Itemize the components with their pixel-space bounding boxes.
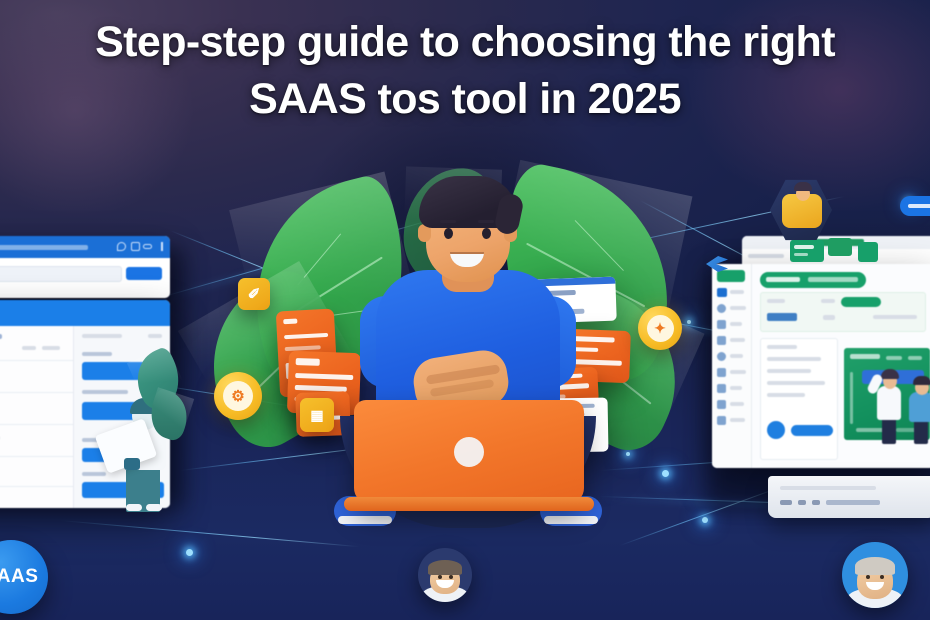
- person-brow-left: [440, 220, 456, 223]
- person-hair: [419, 176, 517, 228]
- person-eye-left: [444, 228, 453, 239]
- left-dashboard-search-input[interactable]: [0, 266, 122, 282]
- orange-share-tile: ✐: [238, 278, 270, 310]
- green-card-small-2: [828, 238, 852, 256]
- green-card-small-1: [790, 240, 824, 262]
- green-card-small-3: [858, 242, 878, 262]
- right-dashboard-sidebar: [712, 264, 752, 468]
- archive-icon[interactable]: [717, 400, 726, 409]
- yellow-gear-glyph: ⚙: [231, 387, 244, 405]
- cart-icon[interactable]: [131, 242, 140, 251]
- saas-logo-label: SAAS: [0, 566, 38, 588]
- dashboard-icon[interactable]: [717, 288, 727, 297]
- folder-icon[interactable]: [717, 368, 726, 377]
- refresh-icon[interactable]: [117, 242, 126, 251]
- avatar-eye: [438, 575, 442, 579]
- laptop-base: [344, 497, 594, 511]
- sidebar-logo: [717, 270, 745, 282]
- avatar-bottom-center[interactable]: [418, 548, 472, 602]
- person-brow-right: [478, 220, 494, 223]
- avatar-eye: [449, 575, 453, 579]
- page-title: Step-step guide to choosing the right SA…: [0, 14, 930, 128]
- headline-line-2: SAAS tos tool in 2025: [8, 71, 922, 128]
- left-dashboard-primary-button[interactable]: [126, 267, 162, 280]
- left-dashboard-app-header: [0, 300, 170, 326]
- left-dashboard-browser[interactable]: [0, 236, 170, 298]
- yellow-gear-badge: ⚙: [214, 372, 262, 420]
- right-dashboard-list-card: [760, 338, 838, 460]
- report-icon[interactable]: [717, 384, 726, 393]
- left-dashboard-table: [0, 326, 74, 508]
- laptop-logo: [454, 437, 484, 467]
- avatar-hair: [855, 557, 896, 575]
- left-dashboard-titlebar: [0, 236, 170, 258]
- person-eye-right: [482, 228, 491, 239]
- avatar-eye: [880, 575, 884, 579]
- list-cta-button[interactable]: [791, 425, 833, 436]
- orange-share-glyph: ✐: [248, 285, 261, 303]
- top-right-pill-button[interactable]: [900, 196, 930, 216]
- right-dashboard-person-1: [872, 368, 906, 444]
- link-icon[interactable]: [143, 244, 152, 249]
- right-dashboard-laptop-base: [768, 476, 930, 518]
- yellow-rocket-glyph: ✦: [654, 320, 666, 337]
- users-icon[interactable]: [717, 304, 726, 313]
- avatar-hair: [428, 560, 461, 575]
- avatar-bottom-right[interactable]: [842, 542, 908, 608]
- headline-line-1: Step-step guide to choosing the right: [95, 18, 835, 66]
- hero-canvas: Step-step guide to choosing the right SA…: [0, 0, 930, 620]
- right-dashboard-cta[interactable]: [841, 297, 881, 307]
- right-dashboard-main: [752, 264, 930, 468]
- right-dashboard-app[interactable]: [712, 264, 930, 468]
- avatar-chip: [767, 421, 785, 439]
- right-dashboard-metrics: [760, 292, 926, 332]
- settings-icon[interactable]: [717, 352, 726, 361]
- yellow-rocket-badge: ✦: [638, 306, 682, 350]
- menu-icon[interactable]: [161, 242, 163, 251]
- chart-icon[interactable]: [717, 320, 726, 329]
- person-laptop: [354, 400, 584, 504]
- central-person-with-laptop: [318, 178, 618, 578]
- right-dashboard-person-2: [904, 376, 930, 444]
- list-icon[interactable]: [717, 416, 726, 425]
- calendar-icon[interactable]: [717, 336, 726, 345]
